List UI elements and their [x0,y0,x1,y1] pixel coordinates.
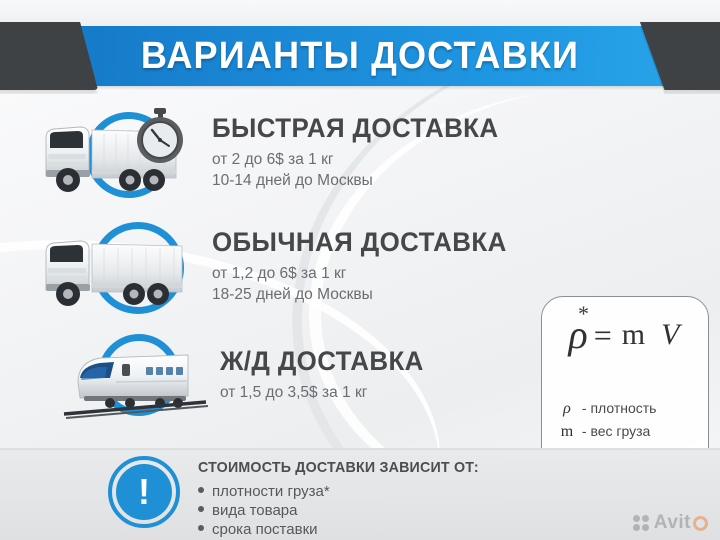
delivery-option-details: от 1,5 до 3,5$ за 1 кг [220,383,432,403]
truck-illustration [34,104,202,200]
list-item-label: плотности груза* [212,483,330,500]
definition-symbol: ρ [556,398,578,420]
formula-rho-symbol: ρ [569,315,588,355]
definition-text: - плотность [582,400,657,416]
delivery-option-title: Ж/Д ДОСТАВКА [220,346,424,377]
definition-row: m - вес груза [556,420,706,443]
page-title: ВАРИАНТЫ ДОСТАВКИ [18,26,702,86]
cost-factors-list: плотности груза* вида товара срока поста… [198,482,494,539]
bullet-icon [198,487,204,493]
price-line: от 1,2 до 6$ за 1 кг [212,264,519,284]
bullet-icon [198,525,204,531]
background-top-highlight [0,0,720,26]
truck-with-stopwatch-icon [34,104,202,200]
definition-row: ρ - плотность [556,397,706,420]
cost-factors-text: СТОИМОСТЬ ДОСТАВКИ ЗАВИСИТ ОТ: плотности… [180,456,494,539]
density-formula: ρ = m V [542,315,709,355]
duration-line: 10-14 дней до Москвы [212,171,510,191]
delivery-option-title: БЫСТРАЯ ДОСТАВКА [212,113,499,144]
truck-illustration [34,218,202,314]
formula-denominator: V [657,318,683,351]
truck-icon [34,218,202,314]
delivery-option-text: Ж/Д ДОСТАВКА от 1,5 до 3,5$ за 1 кг [210,346,432,404]
price-line: от 2 до 6$ за 1 кг [212,150,510,170]
delivery-option-text: БЫСТРАЯ ДОСТАВКА от 2 до 6$ за 1 кг 10-1… [202,113,510,192]
delivery-options-infographic: ВАРИАНТЫ ДОСТАВКИ [0,0,720,540]
definition-symbol: m [556,421,578,443]
cost-factors-band-divider [0,448,720,450]
price-line: от 1,5 до 3,5$ за 1 кг [220,383,432,403]
list-item-label: срока поставки [212,521,318,538]
duration-line: 18-25 дней до Москвы [212,285,519,305]
formula-numerator: m [618,318,649,351]
formula-equals-sign: = [594,319,612,351]
delivery-option-details: от 2 до 6$ за 1 кг 10-14 дней до Москвы [212,150,510,191]
list-item: вида товара [198,501,494,520]
header-banner-shadow [0,86,720,90]
list-item: срока поставки [198,520,494,539]
cost-factors-title: СТОИМОСТЬ ДОСТАВКИ ЗАВИСИТ ОТ: [198,459,479,476]
train-illustration [60,330,210,420]
list-item-label: вида товара [212,502,297,519]
delivery-option-title: ОБЫЧНАЯ ДОСТАВКА [212,227,507,258]
bullet-icon [198,506,204,512]
delivery-option-fast: БЫСТРАЯ ДОСТАВКА от 2 до 6$ за 1 кг 10-1… [34,104,510,200]
cost-factors-block: ! СТОИМОСТЬ ДОСТАВКИ ЗАВИСИТ ОТ: плотнос… [108,456,494,539]
list-item: плотности груза* [198,482,494,501]
exclamation-mark: ! [108,464,180,520]
delivery-option-rail: Ж/Д ДОСТАВКА от 1,5 до 3,5$ за 1 кг [60,330,432,420]
exclamation-icon: ! [108,456,180,528]
delivery-option-details: от 1,2 до 6$ за 1 кг 18-25 дней до Москв… [212,264,519,305]
delivery-option-normal: ОБЫЧНАЯ ДОСТАВКА от 1,2 до 6$ за 1 кг 18… [34,218,519,314]
formula-fraction: m V [618,320,684,350]
delivery-option-text: ОБЫЧНАЯ ДОСТАВКА от 1,2 до 6$ за 1 кг 18… [202,227,519,306]
definition-text: - вес груза [582,423,650,439]
train-icon [60,330,210,420]
